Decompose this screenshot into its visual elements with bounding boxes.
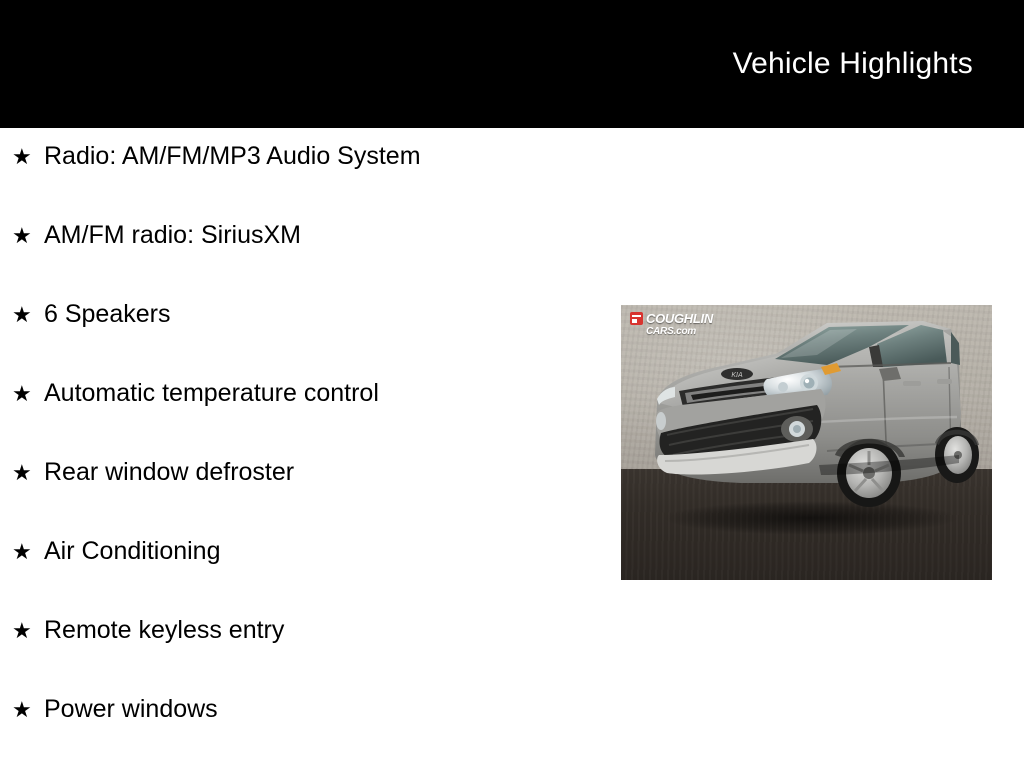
kia-soul-vehicle-illustration: KIA <box>621 305 992 580</box>
list-item: ★ Automatic temperature control <box>0 381 600 460</box>
watermark-subtext: CARS.com <box>646 327 696 337</box>
star-bullet-icon: ★ <box>12 699 44 721</box>
list-item-label: Radio: AM/FM/MP3 Audio System <box>44 144 421 169</box>
list-item-label: Automatic temperature control <box>44 381 379 406</box>
list-item-label: Rear window defroster <box>44 460 294 485</box>
list-item-label: 6 Speakers <box>44 302 170 327</box>
list-item: ★ Air Conditioning <box>0 539 600 618</box>
list-item-label: Air Conditioning <box>44 539 221 564</box>
vehicle-photo: KIA <box>621 305 992 580</box>
list-item: ★ Radio: AM/FM/MP3 Audio System <box>0 144 600 223</box>
star-bullet-icon: ★ <box>12 383 44 405</box>
list-item: ★ AM/FM radio: SiriusXM <box>0 223 600 302</box>
list-item: ★ 6 Speakers <box>0 302 600 381</box>
dealer-watermark: COUGHLIN CARS.com <box>630 312 713 337</box>
svg-text:KIA: KIA <box>731 372 743 379</box>
page-title: Vehicle Highlights <box>733 47 1024 81</box>
vehicle-highlights-list: ★ Radio: AM/FM/MP3 Audio System ★ AM/FM … <box>0 128 600 768</box>
list-item-label: Power windows <box>44 697 218 722</box>
list-item: ★ Power windows <box>0 697 600 768</box>
star-bullet-icon: ★ <box>12 462 44 484</box>
list-item-label: Remote keyless entry <box>44 618 284 643</box>
list-item: ★ Rear window defroster <box>0 460 600 539</box>
star-bullet-icon: ★ <box>12 541 44 563</box>
star-bullet-icon: ★ <box>12 304 44 326</box>
watermark-brand: COUGHLIN <box>646 312 713 325</box>
star-bullet-icon: ★ <box>12 146 44 168</box>
list-item: ★ Remote keyless entry <box>0 618 600 697</box>
vehicle-highlights-page: Vehicle Highlights ★ Radio: AM/FM/MP3 Au… <box>0 0 1024 768</box>
coughlin-logo-icon <box>630 312 643 325</box>
page-header: Vehicle Highlights <box>0 0 1024 128</box>
star-bullet-icon: ★ <box>12 225 44 247</box>
list-item-label: AM/FM radio: SiriusXM <box>44 223 301 248</box>
star-bullet-icon: ★ <box>12 620 44 642</box>
